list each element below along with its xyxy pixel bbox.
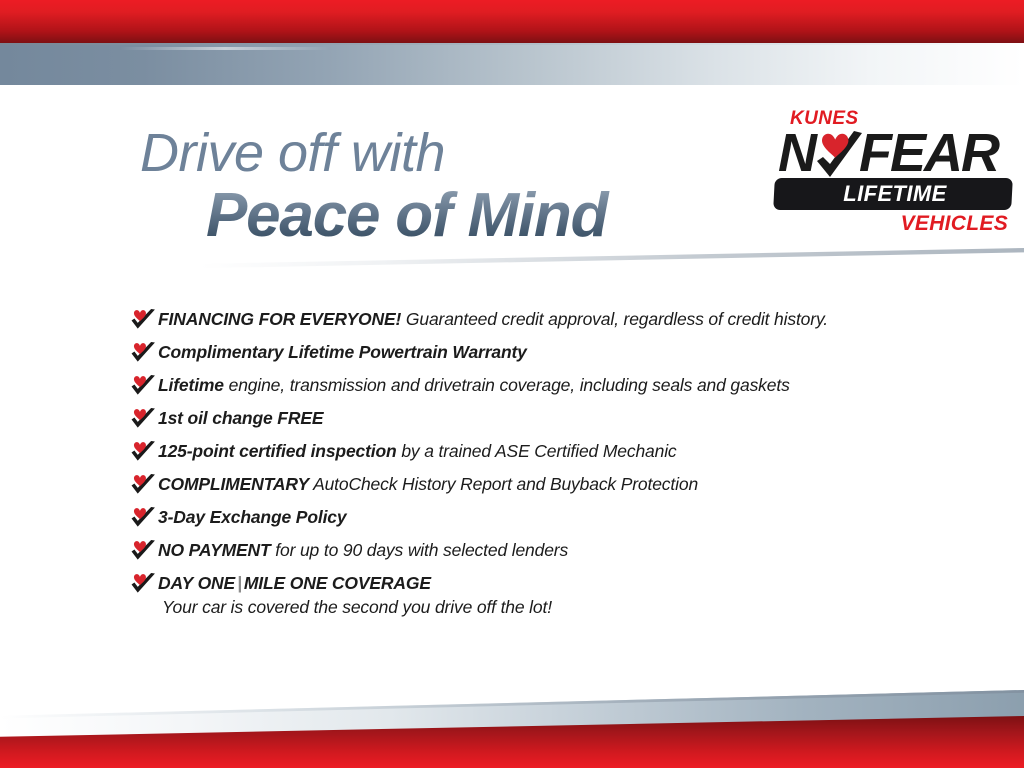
logo-vehicles-label: VEHICLES [901,212,1008,236]
benefits-list: FINANCING FOR EVERYONE! Guaranteed credi… [130,308,930,628]
benefit-item-text: DAY ONE|MILE ONE COVERAGEYour car is cov… [158,572,930,619]
heart-check-bullet-icon [130,375,158,397]
benefit-item-headline: 125-point certified inspection [158,441,397,461]
benefit-item-headline: Complimentary Lifetime Powertrain Warran… [158,342,527,362]
logo-wordmark-no-fear: NFEAR [778,126,998,181]
benefit-item: 1st oil change FREE [130,407,930,431]
benefit-item-detail: by a trained ASE Certified Mechanic [397,441,677,461]
logo-word-fear: FEAR [859,126,998,180]
benefit-item-text: Lifetime engine, transmission and drivet… [158,374,930,396]
heart-check-bullet-icon [130,540,158,562]
benefit-item-detail: Guaranteed credit approval, regardless o… [401,309,828,329]
heart-check-bullet-icon [130,507,158,529]
benefit-item: DAY ONE|MILE ONE COVERAGEYour car is cov… [130,572,930,619]
benefit-item-text: 1st oil change FREE [158,407,930,429]
benefit-item-headline: 1st oil change FREE [158,408,323,428]
benefit-item-text: FINANCING FOR EVERYONE! Guaranteed credi… [158,308,930,330]
heart-check-bullet-icon [130,441,158,463]
benefit-item-headline-2: MILE ONE COVERAGE [244,573,431,593]
header-divider [200,248,1024,270]
benefit-item-text: COMPLIMENTARY AutoCheck History Report a… [158,473,930,495]
benefit-item-headline: Lifetime [158,375,224,395]
benefit-item-text: 3-Day Exchange Policy [158,506,930,528]
heart-check-bullet-icon [130,573,158,595]
headline-line-2: Peace of Mind [206,183,720,248]
benefit-item: FINANCING FOR EVERYONE! Guaranteed credi… [130,308,930,332]
heart-check-icon [815,131,865,181]
benefit-item: 3-Day Exchange Policy [130,506,930,530]
benefit-item: 125-point certified inspection by a trai… [130,440,930,464]
promo-page: Drive off with Peace of Mind KUNES NFEAR… [0,0,1024,768]
benefit-item: NO PAYMENT for up to 90 days with select… [130,539,930,563]
headline-block: Drive off with Peace of Mind [140,126,720,248]
heart-check-bullet-icon [130,474,158,496]
benefit-item-subtext: Your car is covered the second you drive… [162,597,930,618]
benefit-item-text: NO PAYMENT for up to 90 days with select… [158,539,930,561]
benefit-item-headline: DAY ONE [158,573,235,593]
heart-check-bullet-icon [130,309,158,331]
benefit-item-headline: COMPLIMENTARY [158,474,309,494]
benefit-item: Lifetime engine, transmission and drivet… [130,374,930,398]
heart-check-bullet-icon [130,342,158,364]
benefit-item: COMPLIMENTARY AutoCheck History Report a… [130,473,930,497]
top-gray-hairline [0,43,1024,45]
logo-letter-n: N [778,126,815,180]
benefit-item-separator: | [235,573,244,593]
benefit-item-headline: FINANCING FOR EVERYONE! [158,309,401,329]
benefit-item-text: Complimentary Lifetime Powertrain Warran… [158,341,930,363]
benefit-item-headline: NO PAYMENT [158,540,271,560]
headline-line-1: Drive off with [140,126,720,181]
benefit-item-text: 125-point certified inspection by a trai… [158,440,930,462]
top-gray-sheen-highlight [120,47,330,50]
benefit-item-detail: engine, transmission and drivetrain cove… [224,375,790,395]
benefit-item: Complimentary Lifetime Powertrain Warran… [130,341,930,365]
kunes-no-fear-logo: KUNES NFEAR LIFETIME CERTIFIED VEHICLES [768,108,1016,244]
top-red-accent-bar [0,0,1024,43]
benefit-item-detail: AutoCheck History Report and Buyback Pro… [309,474,698,494]
benefit-item-headline: 3-Day Exchange Policy [158,507,346,527]
heart-check-bullet-icon [130,408,158,430]
benefit-item-detail: for up to 90 days with selected lenders [271,540,569,560]
